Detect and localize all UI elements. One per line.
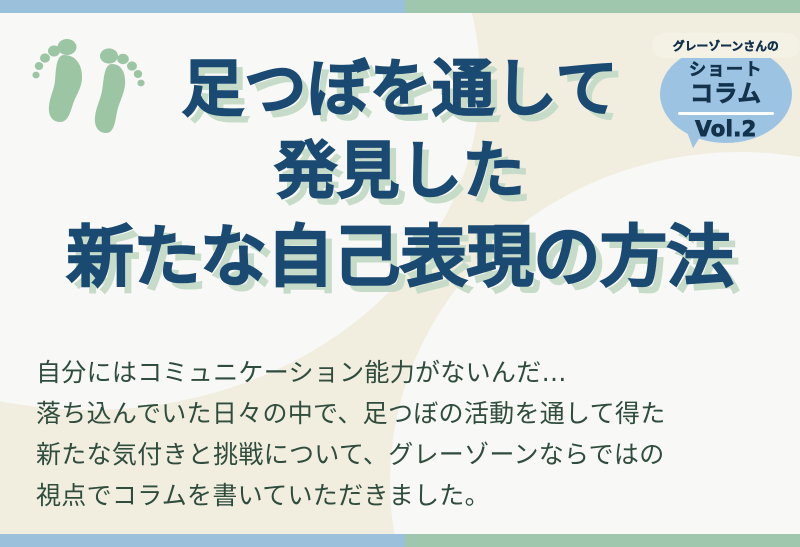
badge-pill-label: グレーゾーンさんの bbox=[652, 33, 800, 58]
badge-title-line-1: ショート bbox=[689, 61, 763, 80]
lede-line-2: 落ち込んでいた日々の中で、足つぼの活動を通して得た bbox=[36, 393, 756, 434]
lede-line-3: 新たな気付きと挑戦について、グレーゾーンならではの bbox=[36, 434, 756, 475]
badge-divider bbox=[678, 112, 774, 115]
top-strip-blue-segment bbox=[0, 0, 405, 13]
bottom-strip-blue-segment bbox=[0, 534, 405, 547]
bottom-accent-strip bbox=[0, 534, 800, 547]
lede-line-4: 視点でコラムを書いていただきました。 bbox=[36, 475, 756, 516]
badge-pill-text: グレーゾーンさんの bbox=[673, 38, 779, 54]
column-banner: 足つぼを通して 発見した 新たな自己表現の方法 自分にはコミュニケーション能力が… bbox=[0, 0, 800, 547]
badge-title-line-2: コラム bbox=[690, 81, 762, 107]
badge-volume-number: Vol.2 bbox=[695, 118, 756, 141]
bottom-strip-green-segment bbox=[405, 534, 800, 547]
column-badge: グレーゾーンさんの ショート コラム Vol.2 bbox=[652, 33, 800, 153]
badge-content: ショート コラム Vol.2 bbox=[660, 59, 792, 145]
top-accent-strip bbox=[0, 0, 800, 13]
lede-paragraph: 自分にはコミュニケーション能力がないんだ… 落ち込んでいた日々の中で、足つぼの活… bbox=[36, 352, 756, 516]
top-strip-green-segment bbox=[405, 0, 800, 13]
lede-line-1: 自分にはコミュニケーション能力がないんだ… bbox=[36, 352, 756, 393]
headline-line-3: 新たな自己表現の方法 bbox=[0, 213, 800, 302]
